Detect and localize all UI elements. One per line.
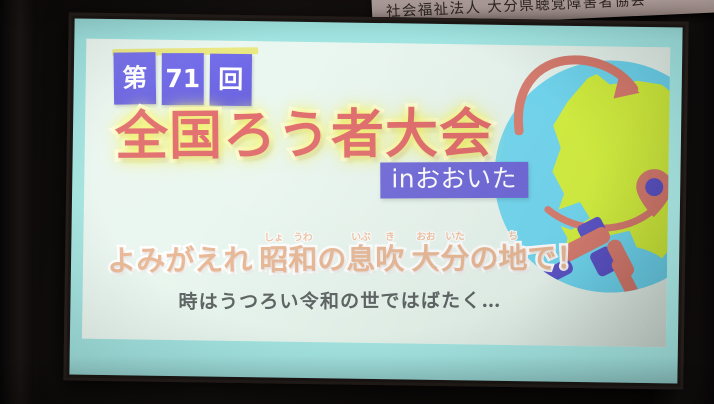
tagline-base-char: 吹 [375,244,404,275]
tagline-segment: の [469,232,498,274]
tagline-base-char: が [165,245,194,276]
tagline-base-char: よ [107,245,136,276]
wall-column-left [0,0,34,404]
edition-panel-1: 第 [113,52,156,105]
tagline-base-char: 地 [498,243,527,274]
edition-panel-3: 回 [209,54,252,106]
screenshot-stage: 社会福祉法人 大分県聴覚障害者協会 [0,0,714,404]
slide-tagline: よ み が え れしょ昭うわ和 のいぶ息き吹おお大いた分 のち地 で ！ [107,231,647,276]
tagline-segment: ！ [556,232,585,274]
tagline-base-char: み [136,245,165,276]
tagline-base-char: 昭 [259,245,288,276]
tagline-segment: の [317,233,346,275]
tagline-segment: うわ和 [288,233,317,275]
tagline-base-char: 息 [346,244,375,275]
projection-screen: 第 71 回 全国ろう者大会 inおおいた よ み が え れしょ昭うわ和 のい… [63,12,688,389]
tagline-segment: ち地 [498,232,527,274]
tagline-segment: よ [107,234,136,276]
slide-location-chip: inおおいた [380,162,528,199]
tagline-segment: で [527,232,556,274]
tagline-segment: いた分 [440,232,469,274]
tagline-segment: み [136,234,165,276]
tagline-segment: おお大 [411,233,440,275]
tagline-segment: が [165,234,194,276]
slide-content-area: 第 71 回 全国ろう者大会 inおおいた よ み が え れしょ昭うわ和 のい… [82,39,670,348]
tagline-base-char: の [469,243,498,274]
tagline-base-char: 分 [440,243,469,274]
slide-subline: 時はうつろい令和の世ではばたく… [178,286,501,314]
edition-panel-2: 71 [162,53,204,105]
tagline-base-char: え [194,245,223,276]
presentation-slide: 第 71 回 全国ろう者大会 inおおいた よ み が え れしょ昭うわ和 のい… [69,19,682,384]
tagline-segment: いぶ息 [346,233,375,275]
tagline-base-char: 大 [411,244,440,275]
tagline-base-char: れ [223,245,252,276]
tagline-base-char: ！ [556,243,585,274]
edition-banner: 第 71 回 [111,47,258,111]
tagline-base-char: の [317,244,346,275]
tagline-segment: しょ昭 [259,234,288,276]
tagline-segment: え [194,234,223,276]
tagline-base-char: で [527,243,556,274]
slide-main-title: 全国ろう者大会 [115,107,575,164]
tagline-segment: き吹 [375,233,404,275]
tagline-base-char: 和 [288,244,317,275]
tagline-segment: れ [223,234,252,276]
